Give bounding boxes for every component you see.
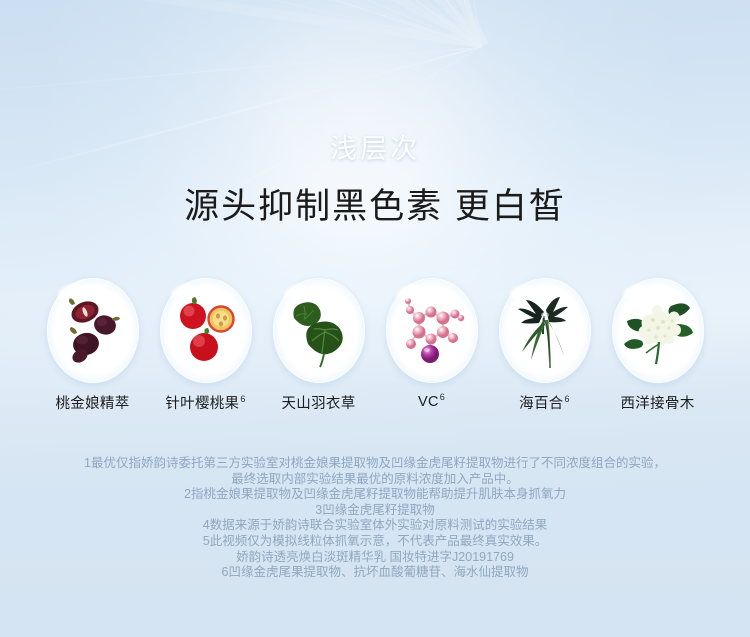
footnote-line: 最终选取内部实验结果最优的原料浓度加入产品中。 bbox=[26, 472, 724, 488]
page-title: 源头抑制黑色素 更白皙 bbox=[0, 184, 750, 230]
ingredient-bubble bbox=[160, 278, 252, 383]
ingredient-name: 天山羽衣草 bbox=[282, 396, 356, 412]
footnote-line: 5此视频仅为模拟线粒体抓氧示意，不代表产品最终真实效果。 bbox=[26, 534, 724, 550]
ingredient-name: 海百合 bbox=[519, 396, 563, 412]
ingredient-name: VC bbox=[418, 394, 439, 410]
elderflower-icon bbox=[623, 292, 693, 370]
footnote-block: 1最优仅指娇韵诗委托第三方实验室对桃金娘果提取物及凹缘金虎尾籽提取物进行了不同浓… bbox=[0, 456, 750, 581]
ingredient-label: 西洋接骨木 bbox=[621, 392, 695, 413]
footnote-line: 娇韵诗透亮焕白淡斑精华乳 国妆特进字J20191769 bbox=[26, 550, 724, 566]
footnote-line: 4数据来源于娇韵诗联合实验室体外实验对原料测试的实验结果 bbox=[26, 518, 724, 534]
ingredient-label: 海百合6 bbox=[519, 392, 570, 413]
section-kicker: 浅层次 bbox=[0, 132, 750, 166]
ingredient-bubble bbox=[499, 278, 591, 383]
ingredient-footnote-marker: 6 bbox=[565, 394, 570, 404]
ingredient-label: VC6 bbox=[418, 392, 445, 410]
ingredient-item-4[interactable]: VC6 bbox=[375, 278, 488, 410]
footnote-line: 2指桃金娘果提取物及凹缘金虎尾籽提取物能帮助提升肌肤本身抓氧力 bbox=[26, 487, 724, 503]
ingredient-bubble bbox=[612, 278, 704, 383]
alchemilla-leaf-icon bbox=[284, 292, 354, 370]
ingredient-label: 天山羽衣草 bbox=[282, 392, 356, 413]
ingredient-bubble bbox=[47, 278, 139, 383]
ingredient-footnote-marker: 6 bbox=[440, 392, 445, 402]
sea-lily-flower-icon bbox=[510, 292, 580, 370]
vitamin-c-molecule-icon bbox=[397, 292, 467, 370]
ingredient-list: 桃金娘精萃 针叶樱桃果6 bbox=[0, 278, 750, 420]
ingredient-item-6[interactable]: 西洋接骨木 bbox=[601, 278, 714, 413]
ingredient-label: 针叶樱桃果6 bbox=[165, 392, 245, 413]
ingredient-item-3[interactable]: 天山羽衣草 bbox=[262, 278, 375, 413]
ingredient-name: 西洋接骨木 bbox=[621, 396, 695, 412]
ingredient-bubble bbox=[273, 278, 365, 383]
myrtle-berry-icon bbox=[58, 292, 128, 370]
ingredient-name: 桃金娘精萃 bbox=[56, 396, 130, 412]
ingredient-item-1[interactable]: 桃金娘精萃 bbox=[36, 278, 149, 413]
footnote-line: 6凹缘金虎尾果提取物、抗坏血酸葡糖苷、海水仙提取物 bbox=[26, 565, 724, 581]
ingredient-label: 桃金娘精萃 bbox=[56, 392, 130, 413]
ingredient-name: 针叶樱桃果 bbox=[165, 396, 239, 412]
ingredient-panel: 浅层次 源头抑制黑色素 更白皙 桃金娘精萃 bbox=[0, 0, 750, 637]
ingredient-item-2[interactable]: 针叶樱桃果6 bbox=[149, 278, 262, 413]
ingredient-bubble bbox=[386, 278, 478, 383]
footnote-line: 3凹缘金虎尾籽提取物 bbox=[26, 503, 724, 519]
footnote-line: 1最优仅指娇韵诗委托第三方实验室对桃金娘果提取物及凹缘金虎尾籽提取物进行了不同浓… bbox=[26, 456, 724, 472]
acerola-cherry-icon bbox=[171, 292, 241, 370]
ingredient-item-5[interactable]: 海百合6 bbox=[488, 278, 601, 413]
ingredient-footnote-marker: 6 bbox=[240, 394, 245, 404]
